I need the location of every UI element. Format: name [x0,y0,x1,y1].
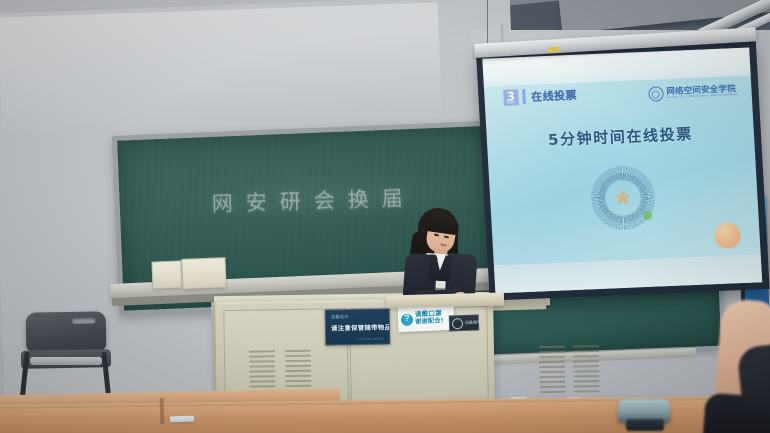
foreground-shoulder [702,393,770,433]
mask-sign-text-block: 请戴口罩 谢谢配合! [415,311,444,327]
wechat-badge-icon [642,211,651,220]
projected-slide: 3 PART 在线投票 网络空间安全学院 SCHOOL OF CYBER SCI… [482,48,762,294]
foreground-device [618,397,670,431]
paper-slip [170,416,194,423]
screen-housing-tab [548,47,560,53]
slide-institution-logo: 网络空间安全学院 SCHOOL OF CYBER SCIENCE AND ENG… [648,83,739,102]
mask-notice-sign: 请戴口罩 谢谢配合! [397,305,454,332]
chair-backrest [26,311,107,352]
logo-emblem-icon [648,86,664,102]
foreground-person-arm [690,300,770,433]
wall-light-reflection [0,2,442,137]
slide-section-header: 3 PART 在线投票 [503,87,577,106]
slide-section-number-sub: PART [503,102,518,106]
belongings-sign-text: 请注意保管随带物品 [331,322,390,332]
equipment-label-text: 设备编号 [465,320,481,325]
classroom-photo: 网安研会换届 3 PART 在线投票 [0,0,770,433]
slide-header-bar [522,89,526,104]
slide-section-title: 在线投票 [531,87,577,105]
projector-screen: 3 PART 在线投票 网络空间安全学院 SCHOOL OF CYBER SCI… [476,41,770,300]
cabinet-vent [539,346,566,393]
slide-main-title: 5分钟时间在线投票 [486,120,754,152]
slide-bottom-band [494,254,762,293]
chair-seat-pad [30,357,102,365]
mask-sign-line2: 谢谢配合! [415,318,444,326]
question-mark-icon [401,313,414,326]
ledge-box [181,257,226,289]
qr-code-icon: ★ [589,164,657,231]
device-base [626,419,664,431]
qr-star-icon: ★ [611,186,634,209]
equipment-emblem-icon [452,318,463,329]
belongings-sign-subtitle: 温馨提示 [331,314,349,320]
ledge-box [151,260,182,288]
stacking-chair [8,312,116,404]
logo-name-en: SCHOOL OF CYBER SCIENCE AND ENGINEERING [667,94,739,100]
cabinet-vent [573,345,600,392]
logo-text-block: 网络空间安全学院 SCHOOL OF CYBER SCIENCE AND ENG… [666,85,738,100]
chalkboard-writing: 网安研会换届 [211,182,416,218]
chair-handle-slot [72,317,96,323]
belongings-notice-sign: 温馨提示 请注意保管随带物品 ATTENTION PLEASE [325,308,391,345]
slide-section-number: 3 PART [503,89,519,106]
slide-decorative-circle [714,222,741,249]
desk-seam [160,398,165,424]
equipment-label-sticker: 设备编号 [449,314,480,331]
speaker-person [396,206,484,302]
belongings-sign-footer: ATTENTION PLEASE [356,338,385,341]
